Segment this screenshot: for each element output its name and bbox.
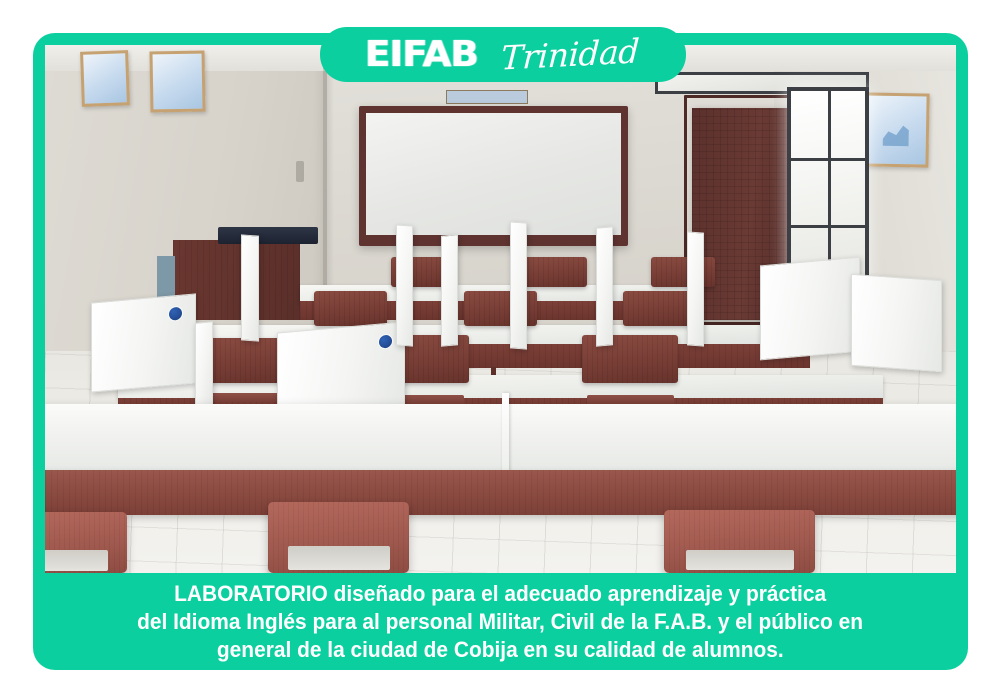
carrel-divider-4 <box>396 224 413 347</box>
caption-line-3: general de la ciudad de Cobija en su cal… <box>217 637 784 663</box>
carrel-divider-7 <box>596 226 613 346</box>
carrel-divider-9 <box>760 257 860 361</box>
chair-rail <box>587 395 674 405</box>
wall-mark <box>296 161 304 182</box>
console-equipment <box>218 227 318 244</box>
carrel-divider-1 <box>91 294 196 393</box>
classroom-photo <box>45 45 956 573</box>
foreground-chair-far-left <box>45 512 127 573</box>
carrel-divider-2 <box>241 234 259 341</box>
caption-block: LABORATORIO diseñado para el adecuado ap… <box>45 575 956 668</box>
chair-rail <box>204 393 286 401</box>
carrel-divider-5 <box>441 234 458 346</box>
chair-back-opening <box>45 550 108 571</box>
chair-back-opening <box>686 550 794 570</box>
brand-badge: EIFAB Trinidad <box>320 27 686 82</box>
framed-picture-left-2 <box>149 51 205 113</box>
carrel-divider-11 <box>195 321 213 407</box>
institution-logo-icon <box>380 335 393 349</box>
framed-picture-right <box>862 92 929 167</box>
wall-sign <box>446 90 528 104</box>
framed-picture-left-1 <box>80 51 130 108</box>
carrel-divider-8 <box>687 232 704 347</box>
caption-line-2: del Idioma Inglés para al personal Milit… <box>138 609 864 635</box>
caption-line-1: LABORATORIO diseñado para el adecuado ap… <box>175 581 827 607</box>
brand-location: Trinidad <box>501 34 641 74</box>
chair-far-3 <box>651 257 715 287</box>
chair-middle-1 <box>314 291 387 327</box>
institution-logo-icon <box>169 307 182 321</box>
foreground-desk-apron <box>45 470 956 515</box>
chair-far-2 <box>523 257 587 287</box>
classroom-photo-scene <box>45 45 956 573</box>
foreground-desk-surface <box>45 404 956 473</box>
poster: EIFAB Trinidad LABORATORIO diseñado para… <box>0 0 1000 700</box>
carrel-divider-6 <box>510 221 527 349</box>
foreground-chair-left <box>268 502 409 573</box>
brand-name: EIFAB <box>364 37 477 73</box>
carrel-divider-10 <box>851 274 942 373</box>
foreground-desk-divider <box>502 393 508 477</box>
foreground-chair-right <box>664 510 814 573</box>
chair-back-opening <box>288 546 390 570</box>
